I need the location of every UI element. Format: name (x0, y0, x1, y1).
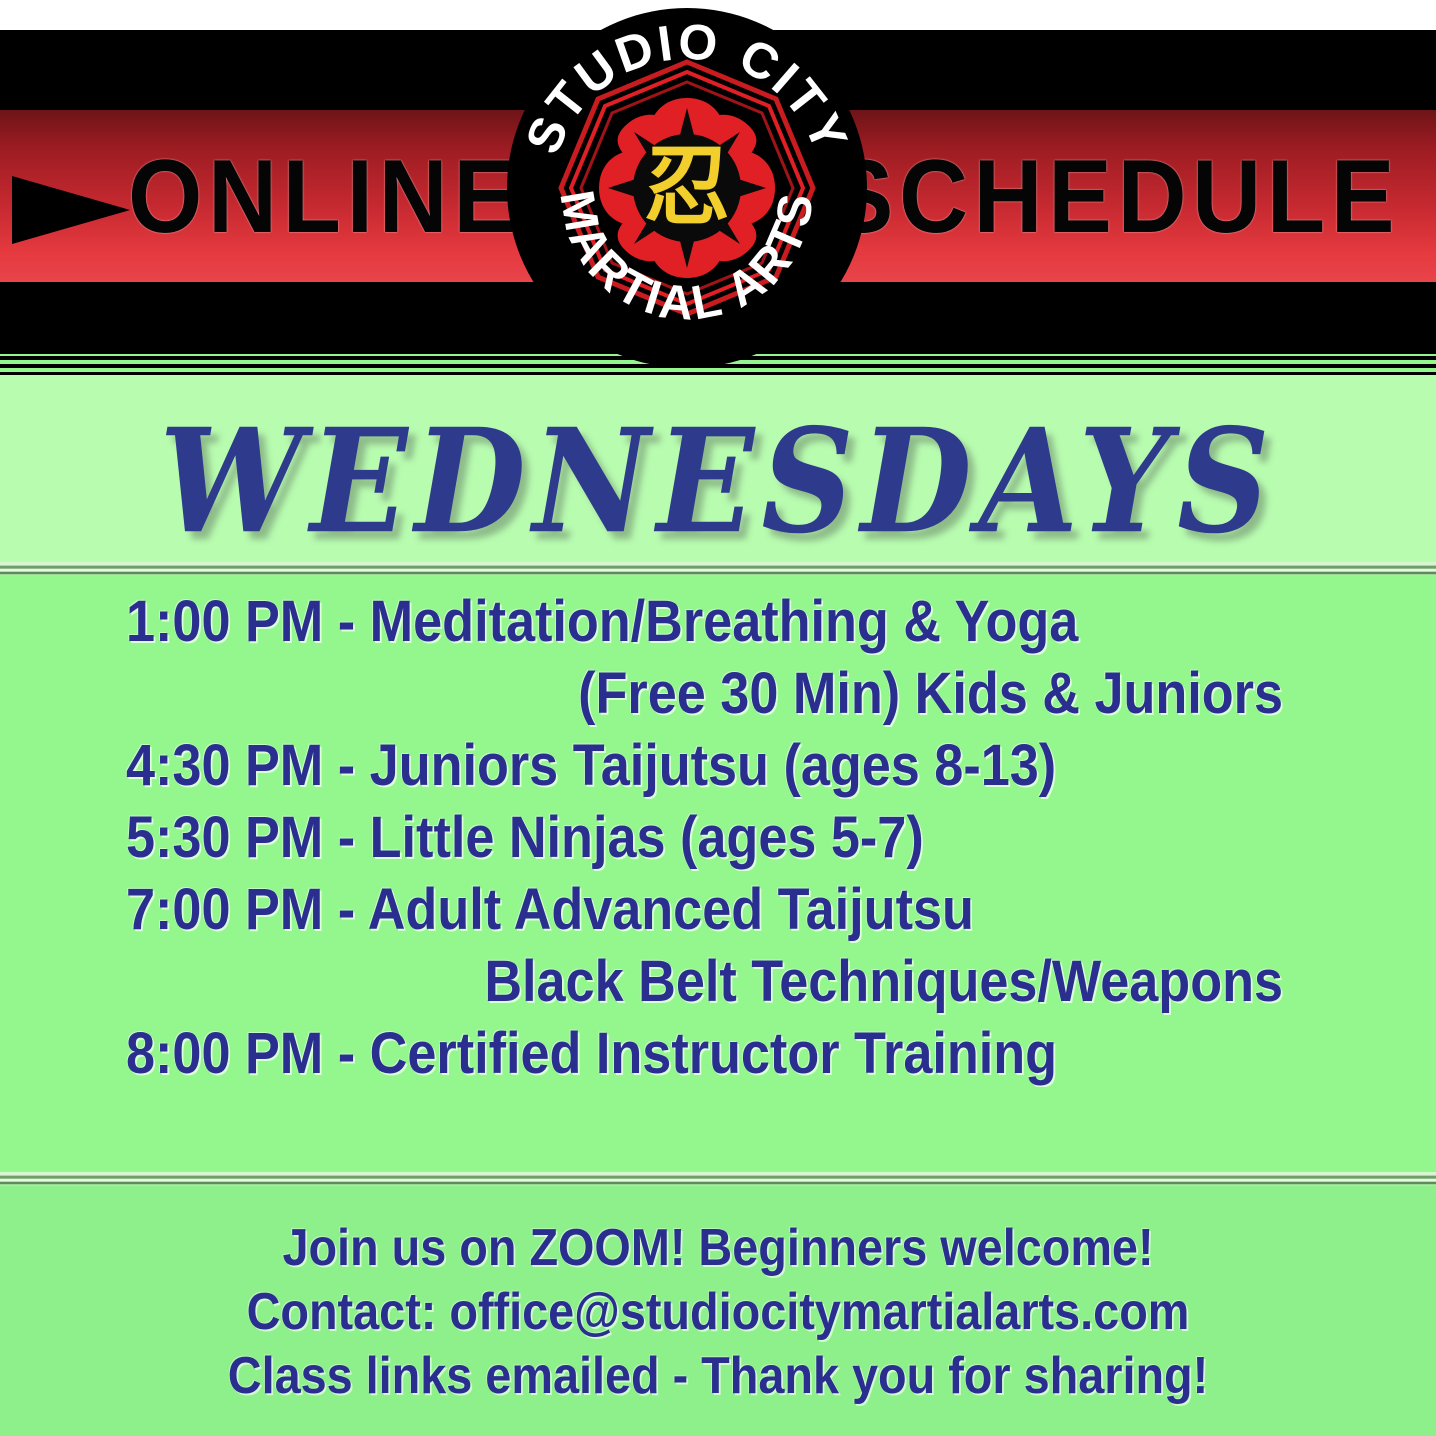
list-item: 8:00 PM - Certified Instructor Training (0, 1018, 1436, 1090)
footer-text: Join us on ZOOM! Beginners welcome! Cont… (0, 1216, 1436, 1408)
svg-text:忍: 忍 (644, 137, 730, 237)
list-item: 4:30 PM - Juniors Taijutsu (ages 8-13) (0, 730, 1436, 802)
list-item: 5:30 PM - Little Ninjas (ages 5-7) (0, 802, 1436, 874)
class-line-secondary: Black Belt Techniques/Weapons (144, 946, 1436, 1018)
banner-word-schedule: SCHEDULE (830, 118, 1400, 276)
play-triangle-icon (12, 176, 130, 244)
class-line-primary: 7:00 PM - Adult Advanced Taijutsu (0, 874, 1292, 946)
studio-city-martial-arts-logo: 忍 STUDIO CITY MARTIAL ARTS (504, 2, 870, 368)
footer-line-contact: Contact: office@studiocitymartialarts.co… (72, 1280, 1364, 1344)
class-line-primary: 4:30 PM - Juniors Taijutsu (ages 8-13) (0, 730, 1292, 802)
list-item: 1:00 PM - Meditation/Breathing & Yoga (F… (0, 586, 1436, 730)
divider-above-classes (0, 562, 1436, 576)
class-line-primary: 1:00 PM - Meditation/Breathing & Yoga (0, 586, 1292, 658)
divider-above-footer (0, 1172, 1436, 1186)
footer-line-zoom: Join us on ZOOM! Beginners welcome! (72, 1216, 1364, 1280)
class-line-primary: 5:30 PM - Little Ninjas (ages 5-7) (0, 802, 1292, 874)
schedule-poster: ONLINE SCHEDULE (0, 0, 1436, 1436)
class-line-secondary: (Free 30 Min) Kids & Juniors (144, 658, 1436, 730)
class-list: 1:00 PM - Meditation/Breathing & Yoga (F… (0, 586, 1436, 1090)
day-title: WEDNESDAYS (0, 398, 1436, 566)
banner-word-online: ONLINE (128, 118, 523, 276)
class-line-primary: 8:00 PM - Certified Instructor Training (0, 1018, 1292, 1090)
list-item: 7:00 PM - Adult Advanced Taijutsu Black … (0, 874, 1436, 1018)
footer-line-links: Class links emailed - Thank you for shar… (72, 1344, 1364, 1408)
